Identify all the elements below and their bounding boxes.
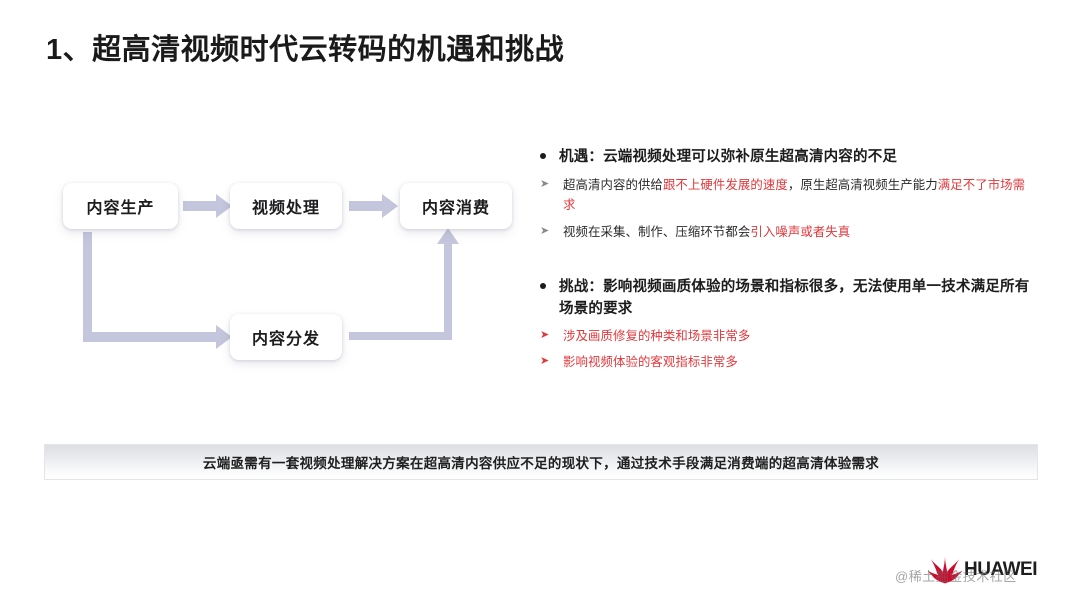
arrow-processing-to-consumption: [349, 194, 398, 218]
bullet-block-opportunity: 机遇：云端视频处理可以弥补原生超高清内容的不足 ➤ 超高清内容的供给跟不上硬件发…: [540, 146, 1030, 242]
bullet-column: 机遇：云端视频处理可以弥补原生超高清内容的不足 ➤ 超高清内容的供给跟不上硬件发…: [540, 146, 1030, 395]
flow-node-label: 内容消费: [422, 194, 490, 218]
flow-node-label: 视频处理: [252, 194, 320, 218]
chevron-right-icon: ➤: [540, 352, 555, 371]
sub-bullet-item: ➤ 影响视频体验的客观指标非常多: [540, 352, 1030, 372]
chevron-right-icon: ➤: [540, 175, 555, 194]
bullet-heading-challenge: 挑战：影响视频画质体验的场景和指标很多，无法使用单一技术满足所有场景的要求: [540, 276, 1030, 320]
sub-bullet-text: 影响视频体验的客观指标非常多: [563, 352, 1030, 372]
bullet-heading-opportunity: 机遇：云端视频处理可以弥补原生超高清内容的不足: [540, 146, 1030, 168]
sub-bullet-text: 超高清内容的供给跟不上硬件发展的速度，原生超高清视频生产能力满足不了市场需求: [563, 175, 1030, 215]
bullet-heading-text: 挑战：影响视频画质体验的场景和指标很多，无法使用单一技术满足所有场景的要求: [559, 276, 1030, 320]
sub-bullet-text: 涉及画质修复的种类和场景非常多: [563, 326, 1030, 346]
sub-bullet-part-red: 跟不上硬件发展的速度: [663, 178, 788, 192]
arrow-production-to-distribution: [83, 232, 232, 349]
sub-bullet-item: ➤ 涉及画质修复的种类和场景非常多: [540, 326, 1030, 346]
sub-bullet-part: ，原生超高清视频生产能力: [788, 178, 938, 192]
summary-banner-text: 云端亟需有一套视频处理解决方案在超高清内容供应不足的现状下，通过技术手段满足消费…: [203, 452, 879, 472]
page-title: 1、超高清视频时代云转码的机遇和挑战: [46, 26, 564, 68]
sub-bullet-item: ➤ 超高清内容的供给跟不上硬件发展的速度，原生超高清视频生产能力满足不了市场需求: [540, 175, 1030, 215]
sub-bullet-part-red: 引入噪声或者失真: [750, 225, 850, 239]
watermark-text: @稀土掘金技术社区: [895, 566, 1017, 585]
bullet-block-challenge: 挑战：影响视频画质体验的场景和指标很多，无法使用单一技术满足所有场景的要求 ➤ …: [540, 276, 1030, 372]
flow-node-distribution[interactable]: 内容分发: [230, 314, 342, 360]
sub-bullet-part: 超高清内容的供给: [563, 178, 663, 192]
sub-bullet-text: 视频在采集、制作、压缩环节都会引入噪声或者失真: [563, 222, 1030, 242]
arrow-distribution-to-consumption: [349, 228, 459, 340]
flow-node-production[interactable]: 内容生产: [63, 183, 178, 229]
summary-banner: 云端亟需有一套视频处理解决方案在超高清内容供应不足的现状下，通过技术手段满足消费…: [44, 444, 1038, 480]
slide-root: 1、超高清视频时代云转码的机遇和挑战 内容生产 视频处理 内容消费 内容: [0, 0, 1080, 607]
flow-node-label: 内容生产: [86, 194, 154, 218]
arrow-production-to-processing: [183, 194, 232, 218]
bullet-dot-icon: [540, 153, 546, 159]
flow-node-processing[interactable]: 视频处理: [230, 183, 342, 229]
flow-diagram: 内容生产 视频处理 内容消费 内容分发: [55, 170, 535, 370]
flow-node-consumption[interactable]: 内容消费: [400, 183, 512, 229]
bullet-dot-icon: [540, 283, 546, 289]
flow-node-label: 内容分发: [252, 325, 320, 349]
sub-bullet-item: ➤ 视频在采集、制作、压缩环节都会引入噪声或者失真: [540, 222, 1030, 242]
chevron-right-icon: ➤: [540, 326, 555, 345]
chevron-right-icon: ➤: [540, 222, 555, 241]
bullet-heading-text: 机遇：云端视频处理可以弥补原生超高清内容的不足: [559, 146, 1030, 168]
sub-bullet-part: 视频在采集、制作、压缩环节都会: [563, 225, 750, 239]
